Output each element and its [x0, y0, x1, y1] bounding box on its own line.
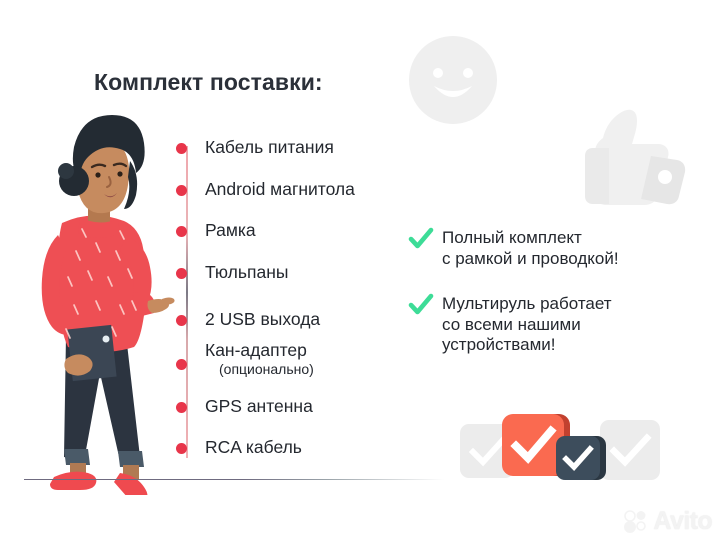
checkbox-gray-right [600, 420, 660, 480]
list-item-label-main: Кан-адаптер [205, 340, 307, 360]
benefit-label: Мультируль работает со всеми нашими устр… [442, 294, 612, 356]
list-item: Тюльпаны [176, 263, 288, 283]
list-item: GPS антенна [176, 397, 313, 417]
bullet-icon [176, 268, 187, 279]
avito-dots-icon [623, 510, 649, 534]
checkbox-cluster [458, 412, 658, 484]
checkbox-red [502, 414, 564, 476]
avito-wordmark: Avito [653, 509, 712, 534]
list-item-label: GPS антенна [205, 397, 313, 417]
spec-list: Кабель питания Android магнитола Рамка Т… [176, 128, 446, 468]
list-item-label: Кан-адаптер (опционально) [205, 341, 314, 378]
check-icon [556, 436, 600, 480]
list-item: 2 USB выхода [176, 310, 320, 330]
green-check-icon [408, 292, 434, 318]
list-item-label: 2 USB выхода [205, 310, 320, 330]
bullet-icon [176, 226, 187, 237]
benefit-label: Полный комплект с рамкой и проводкой! [442, 228, 619, 269]
check-icon [600, 420, 660, 480]
list-item: Рамка [176, 221, 256, 241]
avito-watermark: Avito [623, 509, 712, 534]
list-item: Android магнитола [176, 180, 355, 200]
bullet-icon [176, 402, 187, 413]
bullet-icon [176, 315, 187, 326]
smiley-face-icon [398, 28, 508, 138]
bullet-icon [176, 359, 187, 370]
check-icon [502, 414, 564, 476]
bullet-icon [176, 143, 187, 154]
list-item-label: Кабель питания [205, 138, 334, 158]
listing-image-canvas: Комплект поставки: Кабель питания Androi… [0, 0, 720, 540]
thumbs-up-icon [565, 100, 695, 220]
ground-line [24, 479, 444, 480]
list-item: RCA кабель [176, 438, 302, 458]
benefit-item: Мультируль работает со всеми нашими устр… [408, 294, 612, 356]
list-item: Кабель питания [176, 138, 334, 158]
bullet-icon [176, 185, 187, 196]
woman-pointing-illustration [8, 105, 188, 495]
list-item-label: Тюльпаны [205, 263, 288, 283]
list-item: Кан-адаптер (опционально) [176, 341, 314, 378]
green-check-icon [408, 226, 434, 252]
list-item-label: Рамка [205, 221, 256, 241]
benefit-item: Полный комплект с рамкой и проводкой! [408, 228, 619, 269]
list-item-label: Android магнитола [205, 180, 355, 200]
list-item-sublabel: (опционально) [219, 362, 314, 378]
list-item-label: RCA кабель [205, 438, 302, 458]
bullet-icon [176, 443, 187, 454]
page-title: Комплект поставки: [94, 69, 323, 96]
checkbox-dark [556, 436, 600, 480]
